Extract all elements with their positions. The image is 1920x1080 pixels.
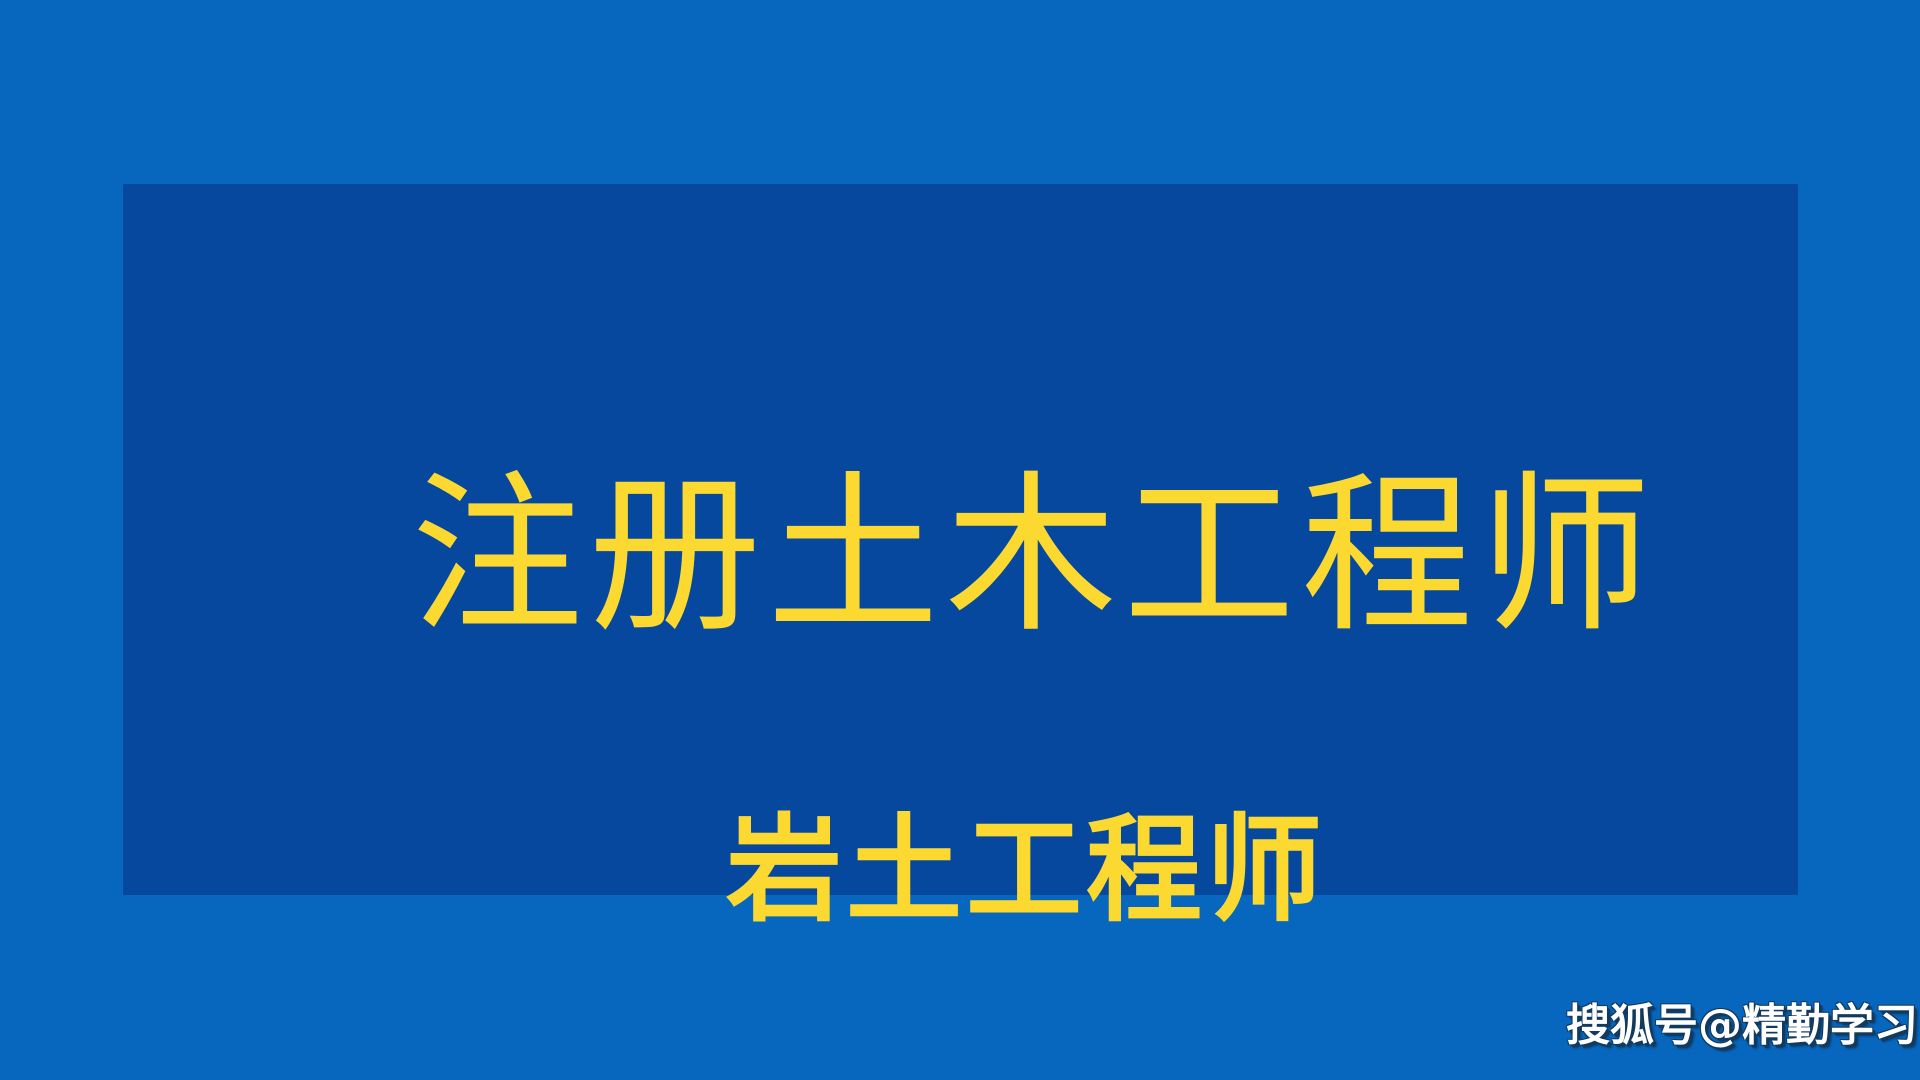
page-title: 注册土木工程师	[411, 456, 1661, 656]
poster-canvas: 注册土木工程师 岩土工程师 搜狐号@精勤学习	[0, 0, 1920, 1080]
watermark-label: 搜狐号@精勤学习	[1566, 995, 1918, 1057]
page-subtitle: 岩土工程师	[726, 796, 1346, 946]
title-panel: 注册土木工程师 岩土工程师	[123, 184, 1798, 895]
